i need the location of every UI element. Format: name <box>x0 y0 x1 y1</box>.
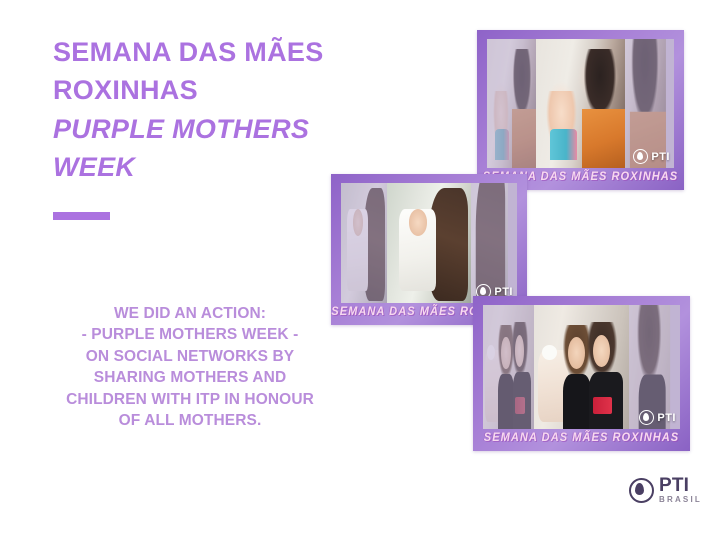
body-line-4: SHARING MOTHERS AND <box>30 367 350 388</box>
photo-center-pane <box>536 39 626 168</box>
pti-brasil-logo: PTI BRASIL <box>629 476 702 504</box>
photo-center-pane <box>534 305 629 429</box>
droplet-icon <box>633 149 648 164</box>
page-title: SEMANA DAS MÃES ROXINHAS PURPLE MOTHERS … <box>53 33 413 186</box>
photo-card-top-right[interactable]: PTI SEMANA DAS MÃES ROXINHAS <box>477 30 684 190</box>
photo-side-pane-left <box>341 183 387 303</box>
title-line-3: PURPLE MOTHERS <box>53 110 413 148</box>
photo-side-pane-left <box>487 39 536 168</box>
logo-name: PTI <box>659 476 702 495</box>
title-line-1: SEMANA DAS MÃES <box>53 33 413 71</box>
watermark-label: PTI <box>657 412 676 424</box>
photo-caption-bottom-right: SEMANA DAS MÃES ROXINHAS <box>487 428 676 448</box>
pti-wordmark: PTI BRASIL <box>659 476 702 504</box>
slide-canvas: SEMANA DAS MÃES ROXINHAS PURPLE MOTHERS … <box>0 0 720 540</box>
body-line-3: ON SOCIAL NETWORKS BY <box>30 346 350 367</box>
droplet-icon <box>639 410 654 425</box>
photo-watermark-bottom-right: PTI <box>639 410 676 425</box>
photo-center-pane <box>387 183 472 303</box>
photo-watermark-top-right: PTI <box>633 149 670 164</box>
body-line-5: CHILDREN WITH ITP IN HONOUR <box>30 389 350 410</box>
body-line-1: WE DID AN ACTION: <box>30 303 350 324</box>
body-line-6: OF ALL MOTHERS. <box>30 410 350 431</box>
watermark-label: PTI <box>651 151 670 163</box>
photo-card-bottom-right[interactable]: PTI SEMANA DAS MÃES ROXINHAS <box>473 296 690 451</box>
photo-side-pane-left <box>483 305 534 429</box>
title-underline-rule <box>53 212 110 220</box>
body-paragraph: WE DID AN ACTION: - PURPLE MOTHERS WEEK … <box>30 303 350 431</box>
logo-subtitle: BRASIL <box>659 496 702 504</box>
body-line-2: - PURPLE MOTHERS WEEK - <box>30 324 350 345</box>
title-line-2: ROXINHAS <box>53 71 413 109</box>
droplet-icon <box>629 478 654 503</box>
